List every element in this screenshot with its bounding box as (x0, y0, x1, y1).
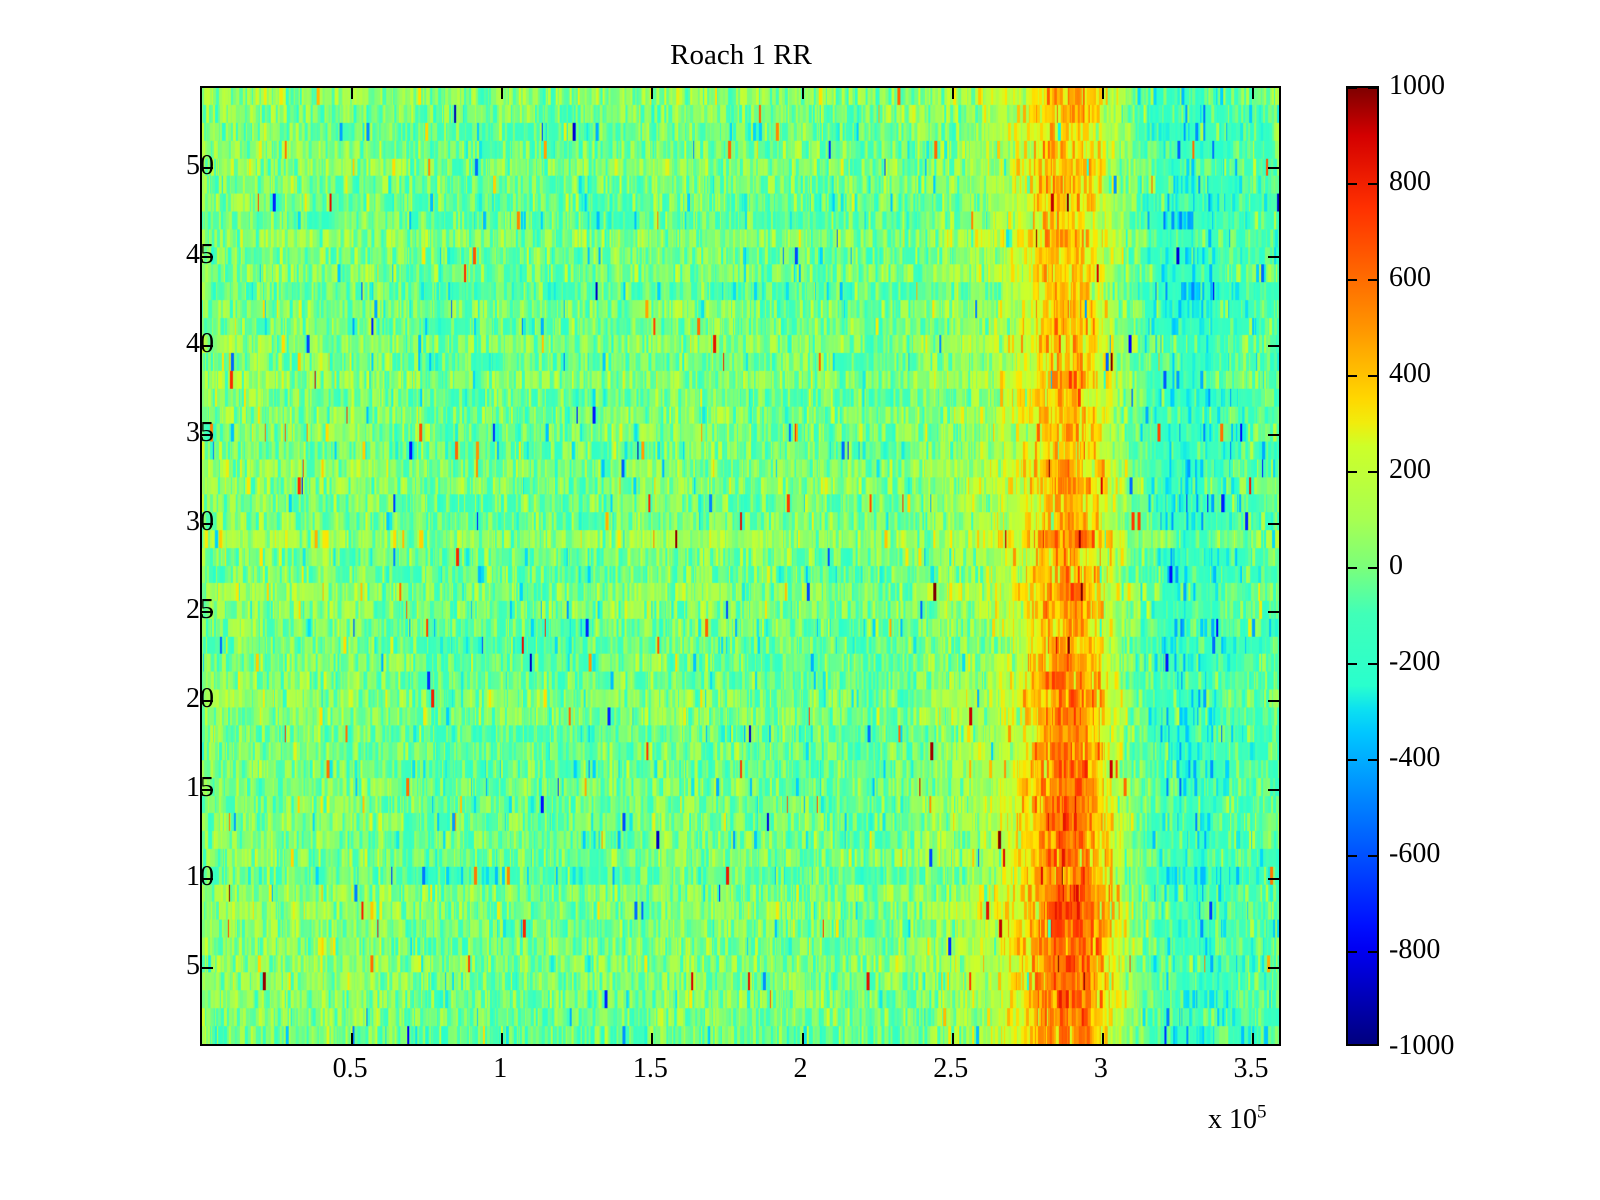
y-tick-label: 40 (186, 328, 214, 360)
x-tick-label: 3 (1094, 1053, 1108, 1085)
colorbar-tick-mark (1348, 759, 1357, 761)
colorbar-tick-mark-right (1368, 87, 1377, 89)
x-tick-label: 3.5 (1233, 1053, 1268, 1085)
x-exponent-power: 5 (1257, 1102, 1267, 1123)
colorbar-tick-mark-right (1368, 375, 1377, 377)
x-tick-label: 1 (493, 1053, 507, 1085)
y-tick-label: 45 (186, 239, 214, 271)
colorbar-tick-label: 1000 (1389, 70, 1445, 102)
colorbar-tick-label: 200 (1389, 454, 1431, 486)
x-tick-mark-top (651, 88, 653, 99)
heatmap-axes[interactable] (200, 86, 1281, 1046)
y-tick-label: 50 (186, 150, 214, 182)
y-tick-label: 35 (186, 417, 214, 449)
x-tick-mark (351, 1033, 353, 1044)
colorbar-tick-label: -400 (1389, 742, 1440, 774)
y-tick-label: 20 (186, 683, 214, 715)
colorbar[interactable] (1346, 86, 1379, 1046)
colorbar-tick-mark (1348, 951, 1357, 953)
heatmap-image (202, 88, 1279, 1044)
colorbar-tick-label: -200 (1389, 646, 1440, 678)
colorbar-tick-mark-right (1368, 663, 1377, 665)
y-tick-mark (202, 967, 213, 969)
colorbar-tick-label: -600 (1389, 838, 1440, 870)
colorbar-tick-mark-right (1368, 951, 1377, 953)
colorbar-tick-mark (1348, 87, 1357, 89)
y-tick-mark-right (1268, 967, 1279, 969)
y-tick-mark-right (1268, 167, 1279, 169)
colorbar-tick-mark (1348, 663, 1357, 665)
y-tick-label: 30 (186, 506, 214, 538)
colorbar-tick-mark (1348, 375, 1357, 377)
x-exponent-base: x 10 (1208, 1104, 1257, 1135)
colorbar-tick-mark (1348, 471, 1357, 473)
y-tick-mark-right (1268, 700, 1279, 702)
colorbar-tick-label: 800 (1389, 166, 1431, 198)
x-tick-label: 1.5 (633, 1053, 668, 1085)
x-axis-exponent-label: x 105 (1208, 1104, 1267, 1136)
colorbar-tick-mark (1348, 279, 1357, 281)
x-tick-mark-top (1252, 88, 1254, 99)
x-tick-mark (1252, 1033, 1254, 1044)
x-tick-mark (501, 1033, 503, 1044)
colorbar-tick-mark-right (1368, 183, 1377, 185)
y-tick-label: 10 (186, 861, 214, 893)
x-tick-mark-top (1102, 88, 1104, 99)
x-tick-mark (952, 1033, 954, 1044)
x-tick-label: 2.5 (933, 1053, 968, 1085)
x-tick-label: 0.5 (333, 1053, 368, 1085)
x-tick-mark-top (802, 88, 804, 99)
y-tick-mark-right (1268, 434, 1279, 436)
colorbar-tick-mark-right (1368, 567, 1377, 569)
x-tick-mark (802, 1033, 804, 1044)
y-tick-mark-right (1268, 523, 1279, 525)
colorbar-tick-mark-right (1368, 279, 1377, 281)
x-tick-mark (1102, 1033, 1104, 1044)
matlab-figure: Roach 1 RR 0.511.522.533.5 5101520253035… (0, 0, 1600, 1200)
colorbar-tick-mark-right (1368, 471, 1377, 473)
colorbar-tick-label: 600 (1389, 262, 1431, 294)
colorbar-tick-mark (1348, 567, 1357, 569)
colorbar-tick-label: -1000 (1389, 1030, 1454, 1062)
x-tick-mark-top (351, 88, 353, 99)
y-tick-mark-right (1268, 256, 1279, 258)
x-tick-label: 2 (794, 1053, 808, 1085)
page-title: Roach 1 RR (200, 38, 1282, 72)
y-tick-label: 15 (186, 772, 214, 804)
colorbar-tick-label: 0 (1389, 550, 1403, 582)
x-tick-mark-top (952, 88, 954, 99)
colorbar-tick-mark-right (1368, 759, 1377, 761)
colorbar-tick-mark-right (1368, 855, 1377, 857)
y-tick-mark-right (1268, 878, 1279, 880)
x-tick-mark (651, 1033, 653, 1044)
colorbar-tick-label: 400 (1389, 358, 1431, 390)
y-tick-mark-right (1268, 789, 1279, 791)
y-tick-mark-right (1268, 611, 1279, 613)
y-tick-label: 25 (186, 594, 214, 626)
y-tick-label: 5 (186, 950, 200, 982)
colorbar-tick-mark (1348, 855, 1357, 857)
colorbar-gradient (1348, 88, 1377, 1044)
colorbar-tick-mark (1348, 183, 1357, 185)
y-tick-mark-right (1268, 345, 1279, 347)
colorbar-tick-label: -800 (1389, 934, 1440, 966)
x-tick-mark-top (501, 88, 503, 99)
